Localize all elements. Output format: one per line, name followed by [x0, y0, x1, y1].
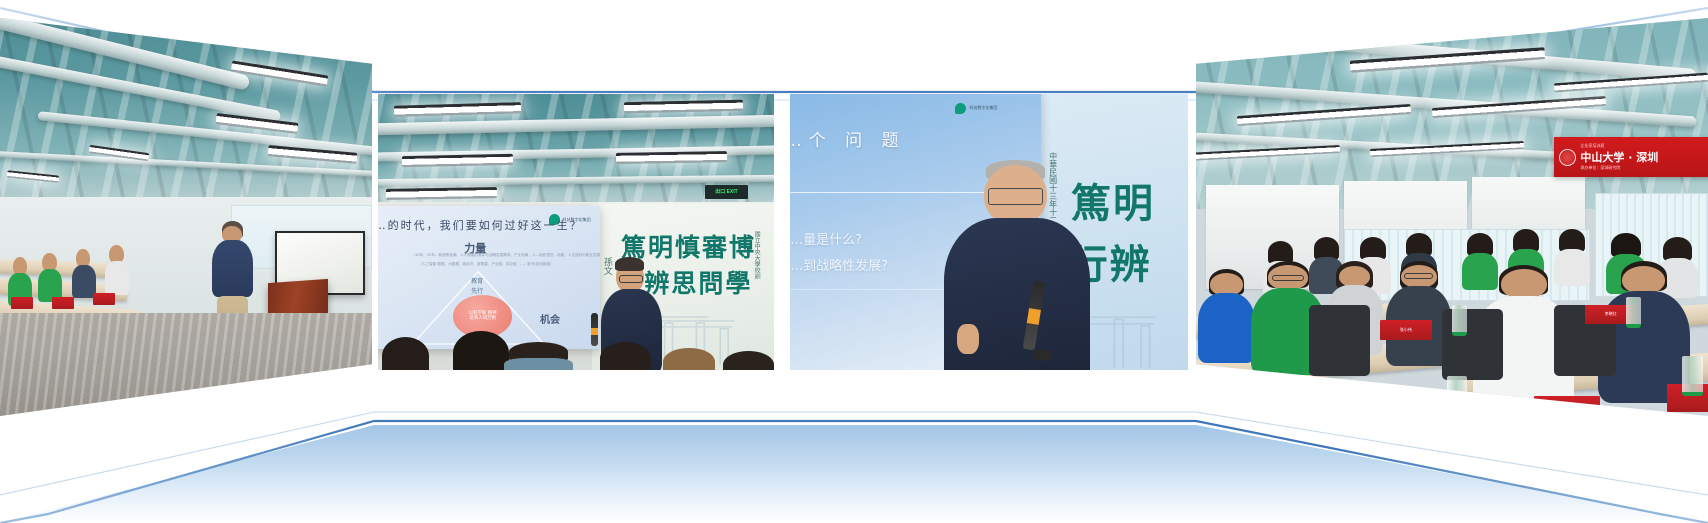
microphone-icon — [591, 313, 598, 346]
audience-head — [453, 331, 508, 370]
banner-title: 中山大学 · 深圳 — [1580, 149, 1658, 165]
water-bottle — [1452, 305, 1467, 337]
audience-figure — [1606, 261, 1683, 388]
calligraphy-side-right: 國立中央大學校訓 — [752, 231, 761, 279]
glasses-icon — [988, 188, 1042, 205]
event-banner: 企业家培训班 中山大学 · 深圳 承办单位：深圳研究院 — [1554, 137, 1708, 177]
water-bottle — [1682, 356, 1702, 396]
audience-seated-photo: 企业家培训班 中山大学 · 深圳 承办单位：深圳研究院 — [1196, 18, 1708, 416]
audience-figure — [37, 253, 63, 301]
audience-figure — [104, 245, 130, 293]
photo-panel-three[interactable]: 篤明 行辨 中華民國十三年十二月 孫文 科技数字化集团 …个 问 题 …量是什么… — [790, 94, 1188, 370]
audience-figure — [71, 249, 97, 297]
slide-notes-bottom: （人工智能·数据、大数据、新经济、新基建、产业链、供应链、…、新·科技创新链） — [418, 262, 553, 267]
speaker-figure — [949, 160, 1084, 370]
glasses-icon — [1404, 273, 1433, 279]
slide-bottom-label: 机会 — [540, 311, 560, 326]
desk-nameplate: 张小伟 — [1380, 320, 1431, 340]
desk-nameplate — [93, 293, 115, 305]
speaker-torso — [212, 240, 252, 297]
glasses-icon — [619, 275, 643, 283]
slide-center-label-2: 培育人间万物 — [469, 316, 497, 322]
photo-panel-left[interactable] — [0, 18, 372, 416]
audience-figure — [1201, 269, 1252, 357]
speaker-closeup-photo: 篤明 行辨 中華民國十三年十二月 孫文 科技数字化集团 …个 问 题 …量是什么… — [790, 94, 1188, 370]
brand-name: 科技数字化集团 — [969, 106, 997, 111]
ceiling-light — [386, 187, 497, 200]
slide-side-note — [378, 318, 380, 323]
audience-head — [600, 342, 651, 370]
classroom-wide-shot-photo — [0, 18, 372, 416]
hand — [957, 324, 979, 354]
exit-sign-label: 出口 EXIT — [715, 188, 738, 195]
audience-head — [382, 337, 430, 370]
calligraphy-line-1: 篤明慎審博 — [621, 228, 756, 264]
slide-line-1: …量是什么? — [790, 229, 862, 248]
slide-apex-label-1: 教育 — [471, 276, 483, 285]
slide-apex-label-2: 先行 — [471, 286, 483, 295]
exit-sign: 出口 EXIT — [705, 185, 749, 199]
photo-panel-two[interactable]: 出口 EXIT 篤明慎審博 行辨思問學 國立中央大學校訓 孫文 科技数字化集团 — [378, 94, 774, 370]
water-bottle — [1626, 297, 1641, 329]
chair — [1442, 309, 1503, 381]
projection-slide: 科技数字化集团 …的时代，我们要如何过好这一生？ 力量 （30年、35年、新趋势… — [378, 206, 600, 350]
slide-title: …的时代，我们要如何过好这一生？ — [378, 217, 583, 233]
nameplate-label: 张小伟 — [1400, 327, 1412, 333]
university-seal-icon — [1559, 149, 1576, 166]
brand-mark-icon — [955, 103, 966, 114]
chair — [1309, 305, 1370, 377]
desk-nameplate — [11, 297, 33, 309]
slide-line-2: …到战略性发展? — [790, 255, 888, 274]
gallery-stage: 出口 EXIT 篤明慎審博 行辨思問學 國立中央大學校訓 孫文 科技数字化集团 — [0, 0, 1708, 523]
desk-nameplate — [52, 297, 74, 309]
ceiling-light — [402, 154, 513, 167]
audience-head — [509, 342, 568, 370]
glasses-icon — [1272, 275, 1304, 281]
ceiling-light — [623, 100, 742, 113]
lecture-with-slide-photo: 出口 EXIT 篤明慎審博 行辨思問學 國立中央大學校訓 孫文 科技数字化集团 — [378, 94, 774, 370]
banner-subtitle-bottom: 承办单位：深圳研究院 — [1580, 165, 1658, 171]
ceiling-light — [616, 151, 727, 164]
audience-head — [723, 351, 774, 370]
wristwatch-icon — [1033, 350, 1052, 361]
audience-head — [663, 348, 714, 370]
photo-panel-right[interactable]: 企业家培训班 中山大学 · 深圳 承办单位：深圳研究院 — [1196, 18, 1708, 416]
nameplate-label: 李晓红 — [1605, 311, 1617, 317]
slide-title: …个 问 题 — [790, 126, 906, 151]
slide-brand-logo: 科技数字化集团 — [955, 103, 997, 114]
audience-figure — [1391, 261, 1447, 357]
slide-notes-top: （30年、35年、新趋势浪潮、人才需要的基本与战略发展需求，产业布局、人—组织里… — [411, 253, 599, 258]
